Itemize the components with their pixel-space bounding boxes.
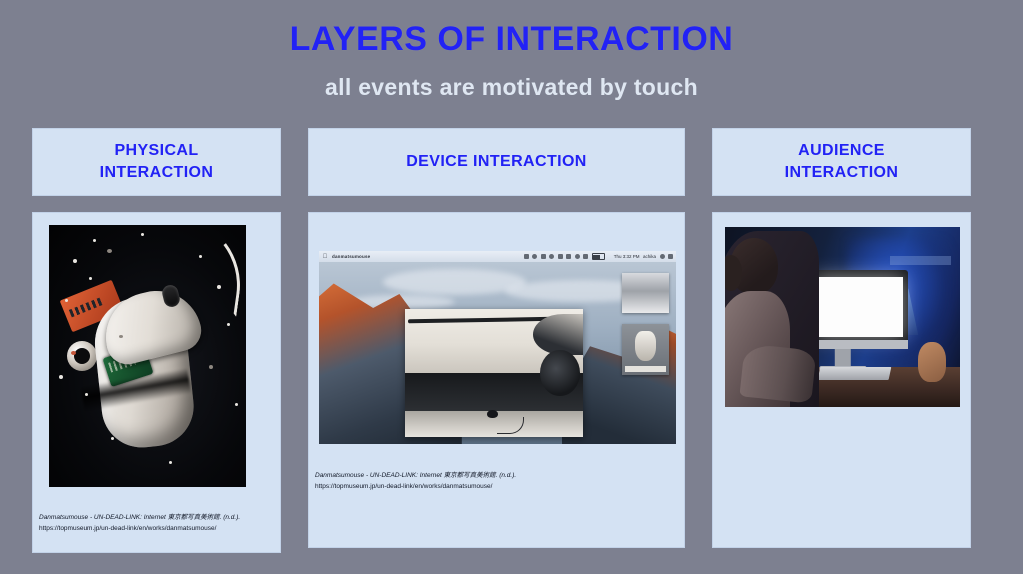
spotlight-search-icon[interactable] [660,254,665,259]
column-header-audience: AUDIENCE INTERACTION [712,128,971,196]
column-header-audience-line2: INTERACTION [785,164,899,181]
vase-shape [635,331,655,361]
image-person-at-computer [725,227,960,407]
debris-particle [217,285,221,289]
person-arm [740,343,817,403]
column-body-physical: Danmatsumouse - UN-DEAD-LINK: Internet 東… [32,212,281,553]
car-wheel [540,350,579,396]
caption-physical: Danmatsumouse - UN-DEAD-LINK: Internet 東… [39,513,266,534]
debris-particle [93,239,96,242]
column-header-audience-line1: AUDIENCE [798,142,885,159]
menubar-app-name[interactable]: danmatsumouse [332,254,370,259]
wifi-icon[interactable] [575,254,580,259]
slide-canvas: LAYERS OF INTERACTION all events are mot… [0,0,1023,574]
debris-particle [169,461,172,464]
display-icon[interactable] [566,254,571,259]
column-header-device: DEVICE INTERACTION [308,128,685,196]
menubar-username[interactable]: achika [643,254,656,259]
person-hand [918,342,946,382]
page-title: LAYERS OF INTERACTION [0,20,1023,59]
dropbox-icon[interactable] [558,254,563,259]
desktop-window-car-photo[interactable] [405,309,584,436]
column-header-physical-line1: PHYSICAL [114,142,198,159]
macos-wallpaper [319,262,676,444]
keyboard [818,367,891,380]
caption-url[interactable]: https://topmuseum.jp/un-dead-link/en/wor… [315,482,660,493]
apple-logo-icon[interactable]:  [322,254,328,260]
monitor-bezel-chin [810,340,909,350]
car-wheel-arch [533,314,583,355]
debris-particle [71,351,76,355]
caption-reference: Danmatsumouse - UN-DEAD-LINK: Internet 東… [39,514,240,521]
column-header-device-line1: DEVICE INTERACTION [406,153,587,170]
debris-particle [111,437,114,440]
shield-icon[interactable] [524,254,529,259]
battery-icon[interactable] [592,253,605,260]
debris-particle [227,323,230,326]
image-macos-desktop-screenshot:  danmatsumouse Thu 3:32 PM achika [319,251,676,444]
debris-particle [85,393,88,396]
bluetooth-icon[interactable] [532,254,537,259]
column-header-physical: PHYSICAL INTERACTION [32,128,281,196]
page-subtitle: all events are motivated by touch [0,74,1023,101]
notification-center-icon[interactable] [668,254,673,259]
desktop-thumbnail-vase[interactable] [622,324,668,375]
background-shelf [890,256,951,265]
timemachine-icon[interactable] [549,254,554,259]
debris-particle [73,259,77,263]
caption-device: Danmatsumouse - UN-DEAD-LINK: Internet 東… [315,471,660,492]
debris-particle [59,375,63,379]
desktop-thumbnail-printer[interactable] [622,273,668,313]
column-body-audience [712,212,971,548]
column-body-device:  danmatsumouse Thu 3:32 PM achika [308,212,685,548]
debris-particle [89,277,92,280]
caption-reference: Danmatsumouse - UN-DEAD-LINK: Internet 東… [315,472,516,479]
debris-particle [235,403,238,406]
caption-url[interactable]: https://topmuseum.jp/un-dead-link/en/wor… [39,524,266,535]
debris-particle [107,249,112,253]
debris-particle [119,335,123,338]
mouse-on-road [487,410,498,418]
computer-monitor [810,270,909,349]
debris-particle [199,255,202,258]
person-silhouette [725,231,819,407]
monitor-screen [815,277,904,337]
menubar-status-icons: Thu 3:32 PM achika [524,253,673,260]
debris-particle [209,365,213,369]
airplay-icon[interactable] [541,254,546,259]
debris-particle [65,299,68,302]
macos-menu-bar:  danmatsumouse Thu 3:32 PM achika [319,251,676,262]
mouse-tracking-ball [67,341,97,371]
image-exploding-mouse [49,225,246,487]
column-header-physical-line2: INTERACTION [100,164,214,181]
debris-particle [141,233,144,236]
volume-icon[interactable] [583,254,588,259]
vase-pedestal [625,366,666,372]
menubar-clock[interactable]: Thu 3:32 PM [614,254,640,259]
